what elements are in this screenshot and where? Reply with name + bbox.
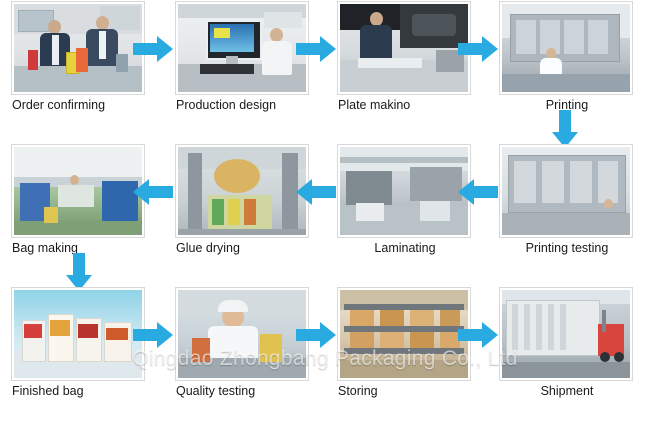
process-step-shipment[interactable]: Shipment	[500, 288, 634, 418]
photo-printing-testing	[500, 145, 632, 237]
arrow-right-3-3	[458, 322, 498, 348]
process-row-2: Bag making Glue drying	[0, 145, 650, 282]
photo-bag-making	[12, 145, 144, 237]
photo-production-design	[176, 2, 308, 94]
process-step-plate-makino[interactable]: Plate makino	[338, 2, 472, 132]
process-step-laminating[interactable]: Laminating	[338, 145, 472, 275]
photo-shipment	[500, 288, 632, 380]
process-step-storing[interactable]: Storing	[338, 288, 472, 418]
photo-finished-bag	[12, 288, 144, 380]
arrow-left-2-3	[458, 179, 498, 205]
caption-order-confirming: Order confirming	[12, 98, 146, 112]
arrow-left-2-1	[133, 179, 173, 205]
arrow-right-1-2	[296, 36, 336, 62]
process-step-production-design[interactable]: Production design	[176, 2, 310, 132]
caption-storing: Storing	[338, 384, 472, 398]
arrow-right-1-1	[133, 36, 173, 62]
process-step-finished-bag[interactable]: Finished bag	[12, 288, 146, 418]
photo-laminating	[338, 145, 470, 237]
caption-laminating: Laminating	[338, 241, 472, 255]
caption-quality-testing: Quality testing	[176, 384, 310, 398]
photo-order-confirming	[12, 2, 144, 94]
caption-plate-makino: Plate makino	[338, 98, 472, 112]
arrow-left-2-2	[296, 179, 336, 205]
arrow-right-1-3	[458, 36, 498, 62]
process-step-order-confirming[interactable]: Order confirming	[12, 2, 146, 132]
process-step-glue-drying[interactable]: Glue drying	[176, 145, 310, 275]
process-step-quality-testing[interactable]: Quality testing	[176, 288, 310, 418]
process-step-printing-testing[interactable]: Printing testing	[500, 145, 634, 275]
caption-production-design: Production design	[176, 98, 310, 112]
photo-printing	[500, 2, 632, 94]
photo-plate-makino	[338, 2, 470, 94]
caption-printing-testing: Printing testing	[500, 241, 634, 255]
arrow-right-3-2	[296, 322, 336, 348]
arrow-right-3-1	[133, 322, 173, 348]
arrow-down-right	[552, 110, 578, 148]
photo-storing	[338, 288, 470, 380]
photo-glue-drying	[176, 145, 308, 237]
caption-shipment: Shipment	[500, 384, 634, 398]
photo-quality-testing	[176, 288, 308, 380]
process-row-3: Finished bag Quality testing	[0, 288, 650, 425]
process-flow-diagram: Order confirming Producti	[0, 0, 650, 431]
arrow-down-left	[66, 253, 92, 291]
caption-glue-drying: Glue drying	[176, 241, 310, 255]
caption-finished-bag: Finished bag	[12, 384, 146, 398]
